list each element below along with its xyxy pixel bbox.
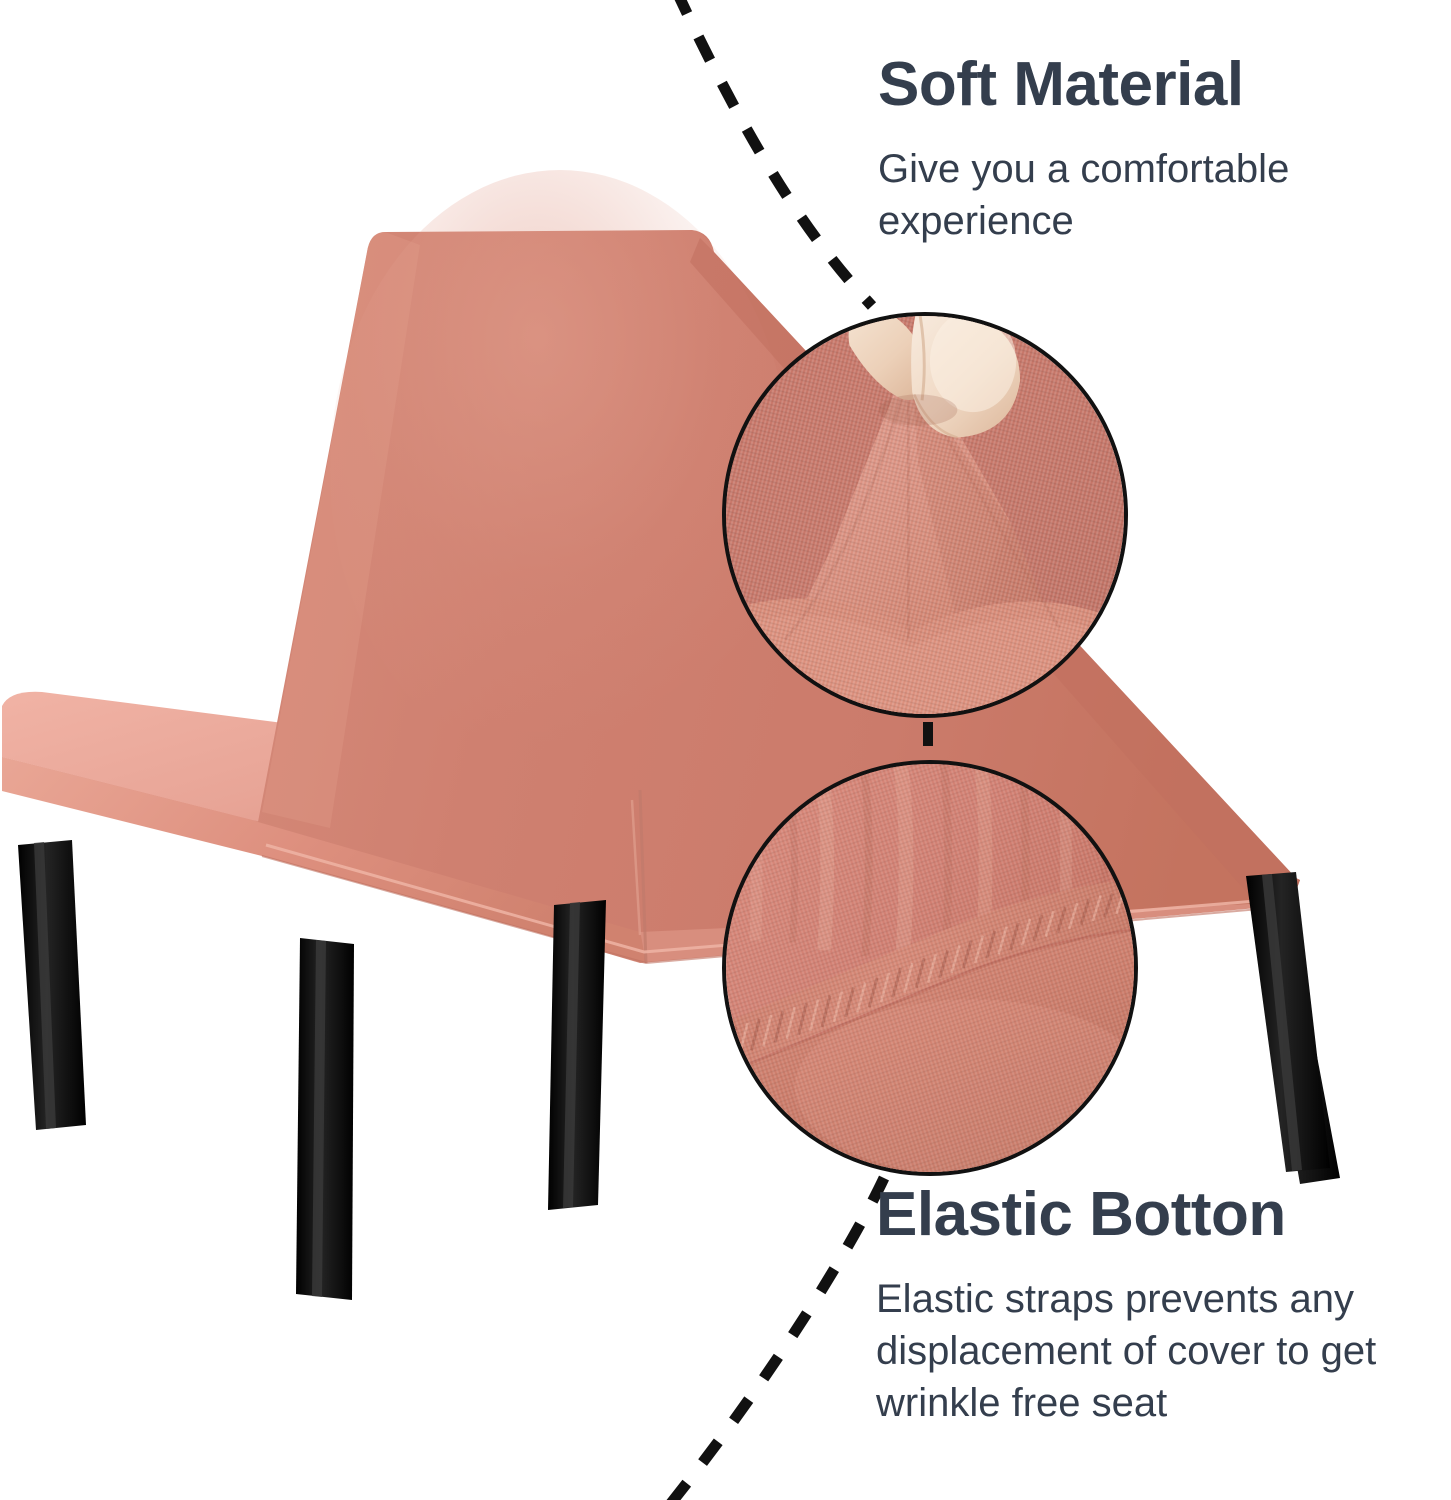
feature-block-soft-material: Soft Material Give you a comfortable exp… (878, 52, 1408, 247)
elastic-hem-image (726, 764, 1134, 1172)
soft-material-heading: Soft Material (878, 52, 1408, 117)
feature-block-elastic-botton: Elastic Botton Elastic straps prevents a… (876, 1182, 1421, 1429)
curved-dashed-divider-lower (664, 1178, 884, 1500)
chair-illustration (2, 170, 1340, 1300)
soft-material-body: Give you a comfortable experience (878, 143, 1408, 247)
callout-elastic-hem (722, 760, 1138, 1176)
elastic-botton-heading: Elastic Botton (876, 1182, 1421, 1247)
elastic-botton-body: Elastic straps prevents any displacement… (876, 1273, 1421, 1429)
product-infographic: Soft Material Give you a comfortable exp… (0, 0, 1451, 1500)
fabric-pinch-image (726, 316, 1124, 714)
callout-fabric-pinch (722, 312, 1128, 718)
